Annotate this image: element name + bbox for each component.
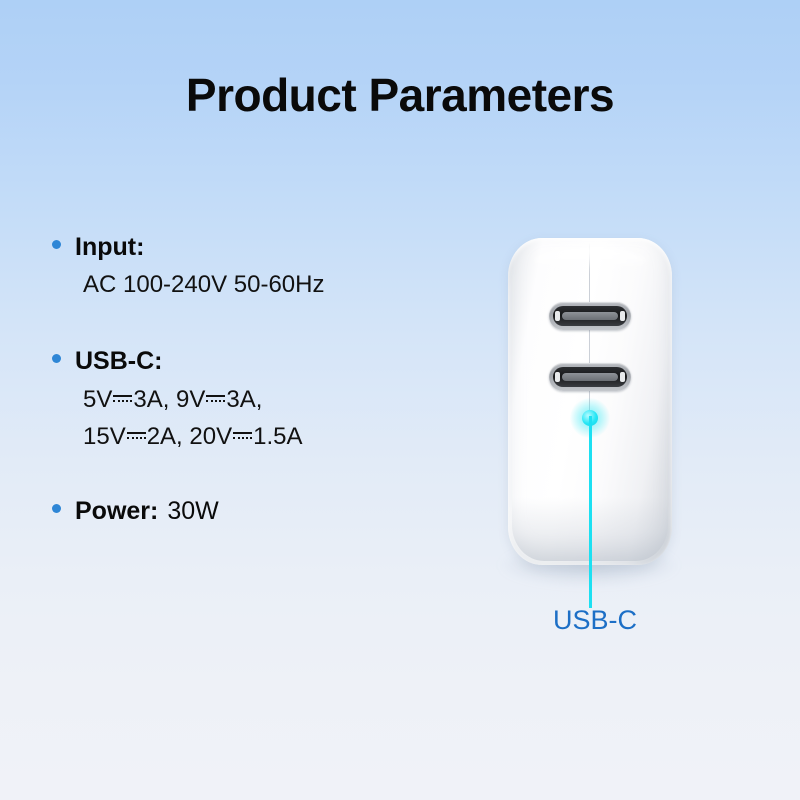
usb-c-port-top-cavity [553,306,627,326]
usbc-line2-part2: 2A, 20V [147,423,232,450]
charger-top-highlight [534,248,646,274]
usbc-line1-part3: 3A, [226,386,262,413]
usb-c-port-bottom [549,363,631,391]
bullet-icon [52,354,61,363]
dc-current-icon [113,393,132,405]
spec-detail-usbc-line1: 5V3A, 9V3A, [83,384,472,415]
usb-c-port-top [549,302,631,330]
dc-current-icon [127,430,146,442]
usbc-line2-part1: 15V [83,423,126,450]
usbc-line1-part2: 3A, 9V [133,386,205,413]
spec-value-power: 30W [167,496,218,527]
usb-c-pin-right [620,372,625,382]
product-parameters-poster: Product Parameters Input: AC 100-240V 50… [0,0,800,800]
usb-c-tongue [562,373,618,381]
specification-list: Input: AC 100-240V 50-60Hz USB-C: 5V3A, … [52,232,472,549]
usb-c-pin-right [620,311,625,321]
spec-label-input: Input: [75,232,144,263]
spec-heading-input: Input: [52,232,472,263]
callout-label-usbc: USB-C [470,605,720,636]
charger-product-image [470,215,720,645]
spec-detail-usbc-line2: 15V2A, 20V1.5A [83,421,472,452]
page-title: Product Parameters [0,68,800,122]
usbc-line1-part1: 5V [83,386,112,413]
bullet-icon [52,504,61,513]
spec-detail-input: AC 100-240V 50-60Hz [83,269,472,300]
spec-heading-usbc: USB-C: [52,346,472,377]
spec-heading-power: Power: 30W [52,496,472,527]
spec-label-usbc: USB-C: [75,346,163,377]
spec-group-input: Input: AC 100-240V 50-60Hz [52,232,472,300]
dc-current-icon [233,430,252,442]
usbc-line2-part3: 1.5A [253,423,302,450]
usb-c-port-bottom-cavity [553,367,627,387]
spec-group-power: Power: 30W [52,496,472,527]
usb-c-pin-left [555,311,560,321]
usb-c-tongue [562,312,618,320]
spec-label-power: Power: [75,496,158,527]
spec-group-usbc: USB-C: 5V3A, 9V3A, 15V2A, 20V1.5A [52,346,472,452]
usb-c-pin-left [555,372,560,382]
bullet-icon [52,240,61,249]
dc-current-icon [206,393,225,405]
callout-leader-line [589,416,592,608]
